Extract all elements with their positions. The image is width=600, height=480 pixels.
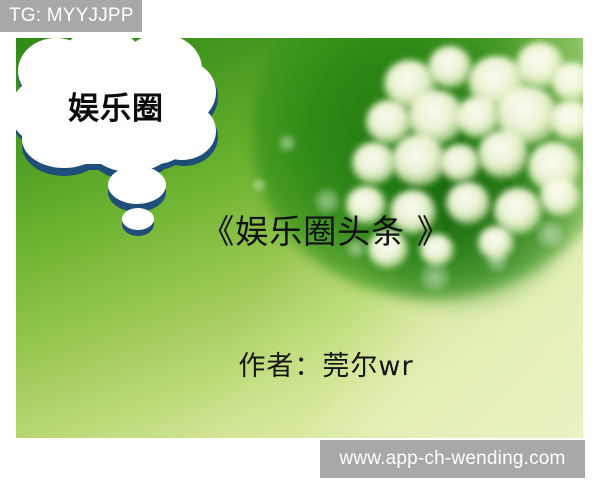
screenshot-canvas: 娱乐圈 《娱乐圈头条 》 作者：莞尔wr TG: MYYJJPP www.app… [0, 0, 600, 480]
flower-blossom [352, 142, 396, 184]
flower-blossom [440, 144, 480, 182]
bokeh-highlight [252, 178, 266, 192]
book-cover-image: 娱乐圈 《娱乐圈头条 》 作者：莞尔wr [16, 38, 583, 438]
bokeh-highlight [420, 262, 450, 292]
flower-blossom [540, 178, 580, 216]
flower-blossom [478, 130, 528, 178]
bokeh-highlight [536, 220, 564, 248]
telegram-watermark: TG: MYYJJPP [0, 0, 142, 32]
flower-blossom [392, 134, 446, 186]
bokeh-highlight [486, 250, 508, 272]
bokeh-highlight [278, 134, 296, 152]
flower-blossom [428, 46, 472, 88]
cover-author: 作者：莞尔wr [166, 344, 486, 383]
website-watermark: www.app-ch-wending.com [320, 440, 585, 478]
bubble-trail [108, 166, 166, 204]
thought-bubble: 娱乐圈 [16, 38, 216, 223]
cover-title: 《娱乐圈头条 》 [166, 205, 486, 253]
website-watermark-text: www.app-ch-wending.com [339, 448, 565, 470]
bubble-trail [122, 208, 154, 230]
telegram-watermark-text: TG: MYYJJPP [9, 5, 134, 27]
bubble-label: 娱乐圈 [30, 94, 202, 125]
